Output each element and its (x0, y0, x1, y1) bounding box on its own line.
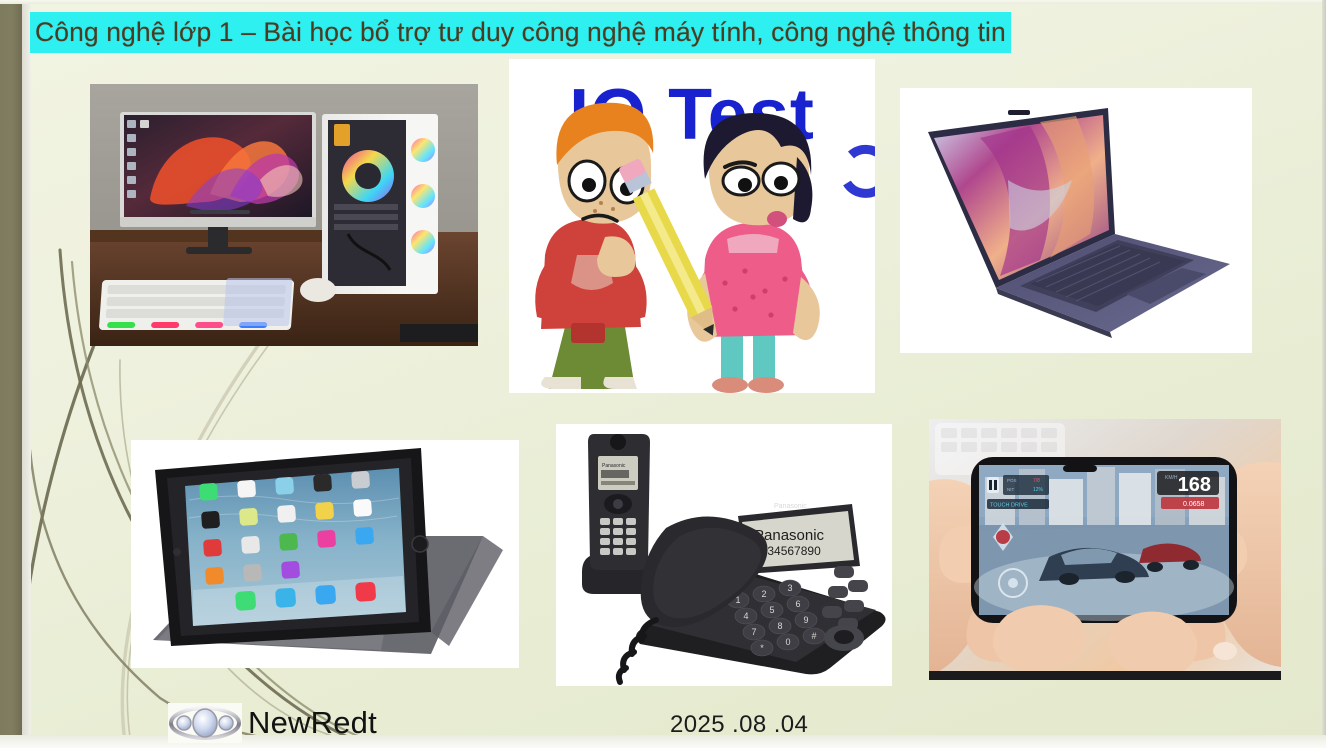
svg-text:7: 7 (751, 627, 756, 637)
image-laptop (900, 88, 1252, 353)
svg-text:7/8: 7/8 (1033, 478, 1040, 484)
svg-text:Panasonic: Panasonic (602, 463, 626, 469)
svg-text:12%: 12% (1033, 487, 1044, 493)
top-edge (0, 0, 1326, 4)
svg-text:9: 9 (803, 615, 808, 625)
svg-text:Panasonic: Panasonic (774, 503, 807, 510)
svg-text:5: 5 (769, 605, 774, 615)
svg-text:0: 0 (785, 637, 790, 647)
image-iq-test: IQ Test (509, 59, 875, 393)
slide-title: Công nghệ lớp 1 – Bài học bổ trợ tư duy … (30, 12, 1011, 53)
svg-text:4: 4 (743, 611, 748, 621)
image-tablet (131, 440, 519, 668)
svg-text:6: 6 (795, 599, 800, 609)
slide-title-text: Công nghệ lớp 1 – Bài học bổ trợ tư duy … (30, 12, 1011, 53)
svg-text:2: 2 (761, 589, 766, 599)
right-edge (1322, 0, 1326, 748)
svg-text:8: 8 (777, 621, 782, 631)
image-telephone: Panasonic Panasonic (556, 424, 892, 686)
image-desktop-pc (90, 84, 478, 346)
svg-text:NIT: NIT (1007, 487, 1015, 492)
footer-date: 2025 .08 .04 (670, 711, 808, 739)
newredt-oval-logo (168, 703, 242, 743)
svg-text:POS: POS (1007, 478, 1017, 483)
hud-touch-label: TOUCH DRIVE (990, 503, 1028, 509)
left-light-strip (22, 0, 31, 748)
left-accent-bar (0, 0, 22, 748)
footer-brand: NewRedt (248, 705, 377, 741)
svg-text:KM/H: KM/H (1165, 475, 1178, 481)
hud-speed: 168 (1178, 474, 1211, 496)
svg-text:#: # (811, 631, 816, 641)
svg-text:*: * (760, 643, 764, 653)
image-gaming-phone: 168 KM/H 0.0658 POS NIT 7/8 12% TOUCH DR… (929, 419, 1281, 680)
svg-text:3: 3 (787, 583, 792, 593)
hud-timer: 0.0658 (1183, 501, 1205, 508)
slide-canvas: Công nghệ lớp 1 – Bài học bổ trợ tư duy … (0, 0, 1326, 748)
